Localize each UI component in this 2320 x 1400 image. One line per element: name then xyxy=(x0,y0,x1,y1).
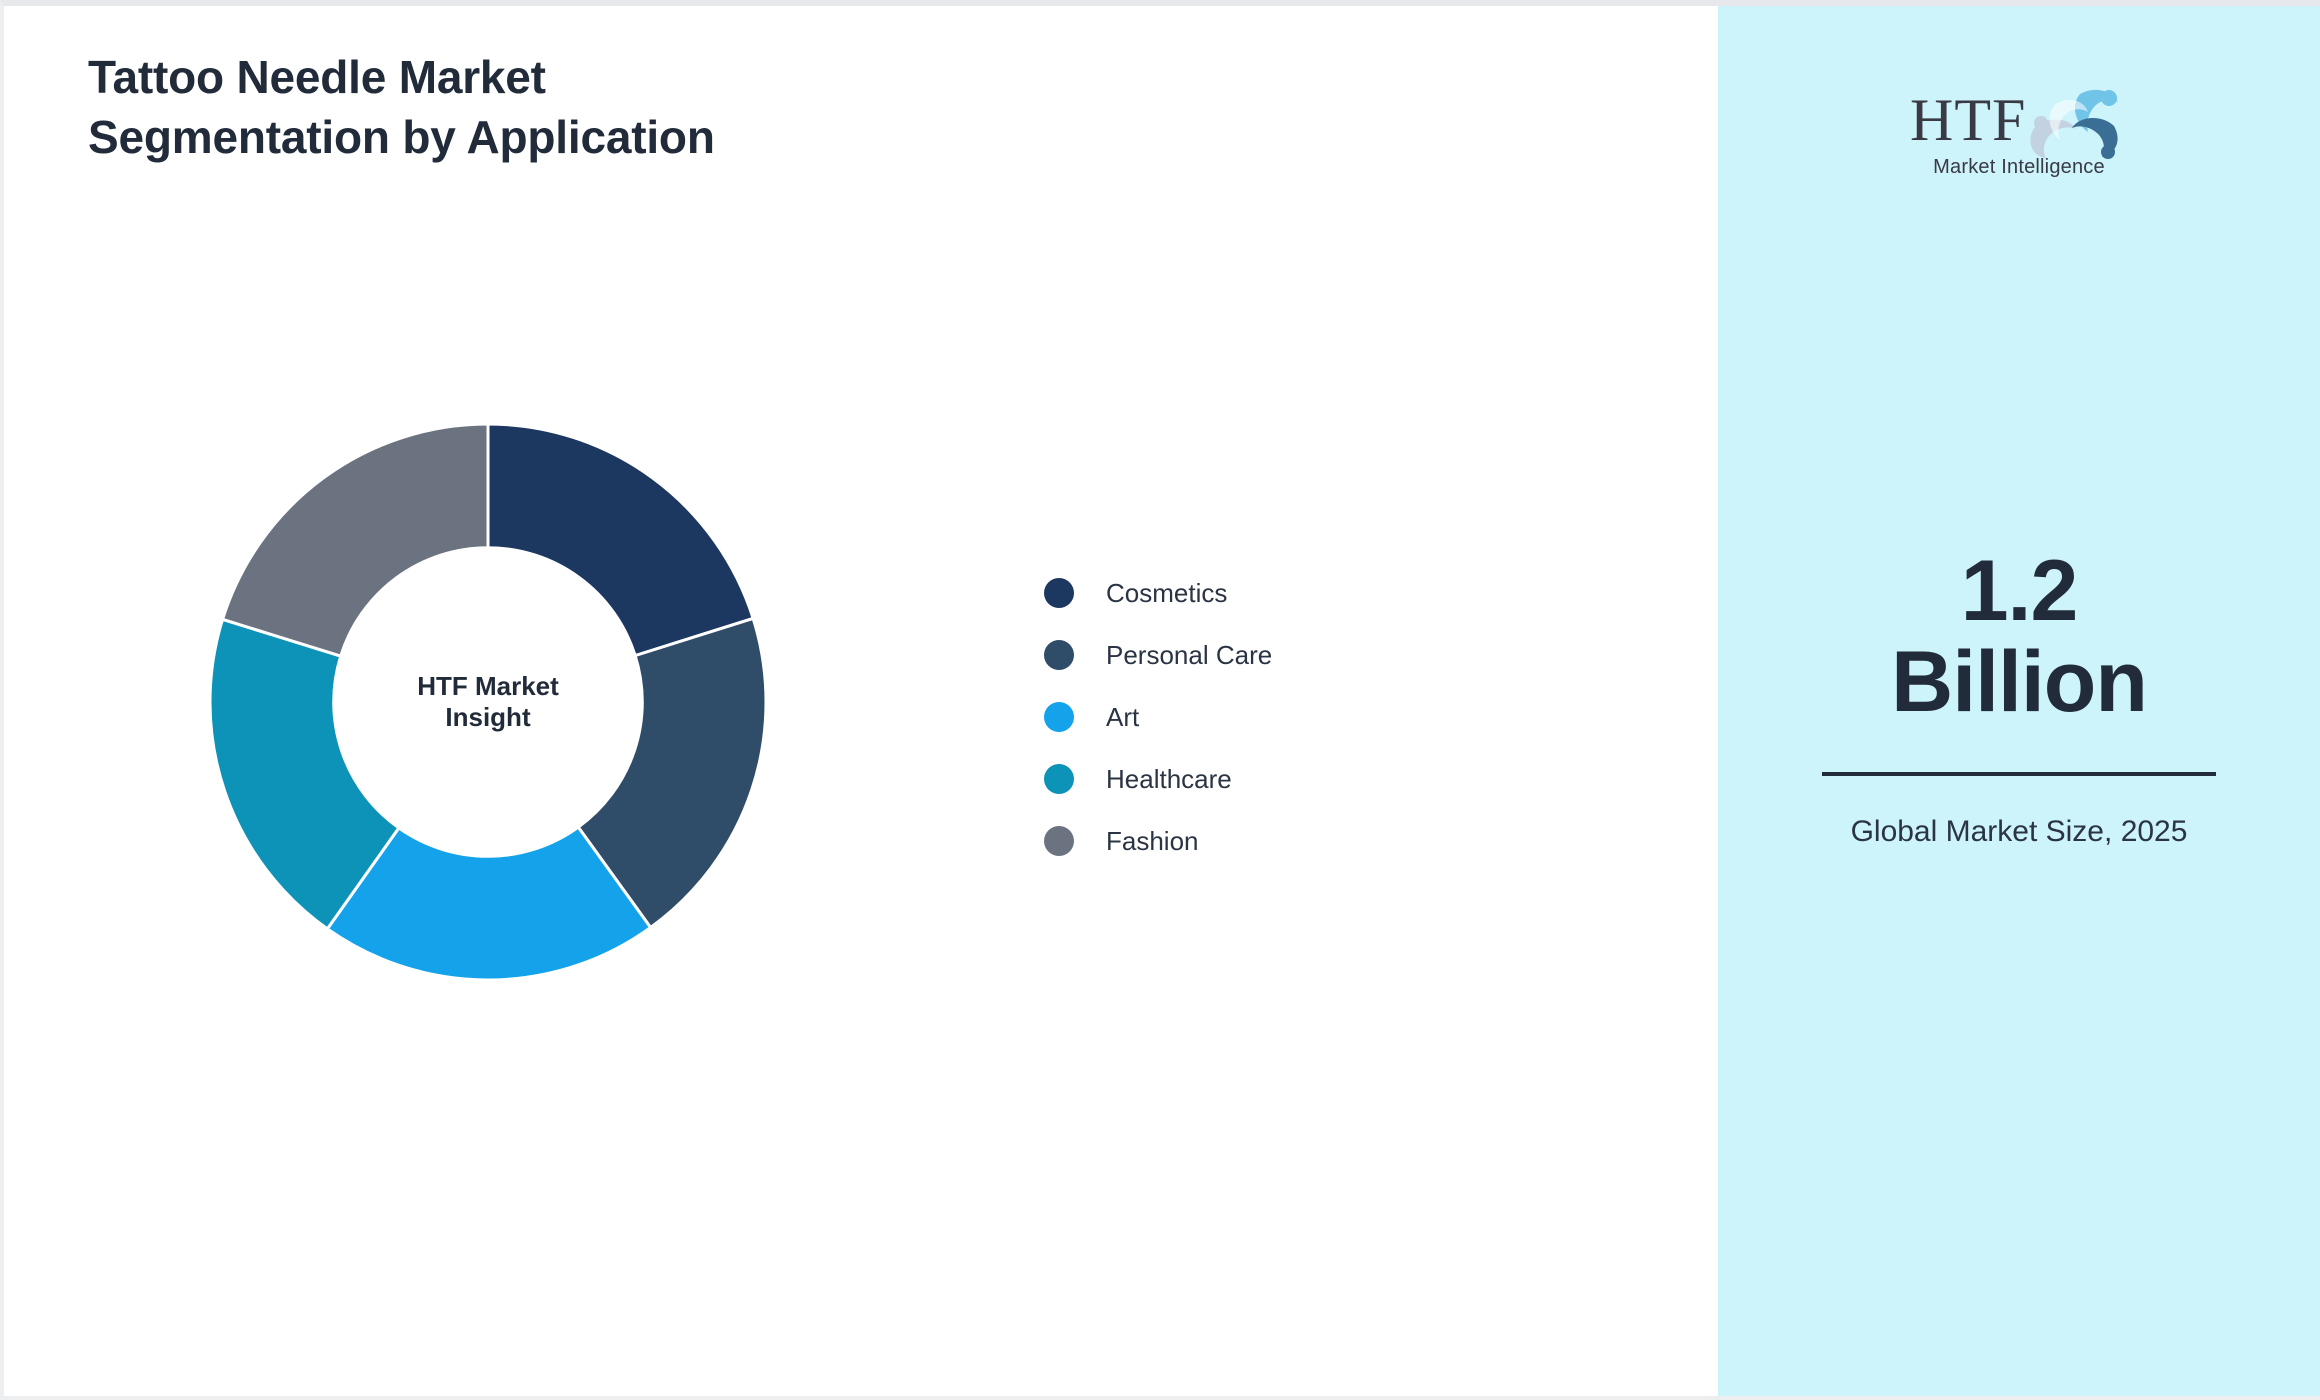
page-title-line-2: Segmentation by Application xyxy=(88,108,1188,168)
chart-legend: CosmeticsPersonal CareArtHealthcareFashi… xyxy=(1044,562,1272,872)
market-size-value-line-2: Billion xyxy=(1769,637,2269,728)
legend-item[interactable]: Personal Care xyxy=(1044,624,1272,686)
market-size-stat: 1.2 Billion Global Market Size, 2025 xyxy=(1769,546,2269,853)
market-size-caption-line-2: 2025 xyxy=(2121,815,2188,848)
donut-segment-cosmetics[interactable] xyxy=(488,424,753,656)
legend-swatch-icon xyxy=(1044,640,1074,670)
legend-swatch-icon xyxy=(1044,578,1074,608)
market-size-caption: Global Market Size, 2025 xyxy=(1769,812,2269,853)
page-title: Tattoo Needle Market Segmentation by App… xyxy=(88,48,1188,168)
legend-item-label: Cosmetics xyxy=(1106,578,1227,609)
page-title-line-1: Tattoo Needle Market xyxy=(88,48,1188,108)
legend-item[interactable]: Art xyxy=(1044,686,1272,748)
donut-chart: HTF Market Insight xyxy=(210,424,766,980)
htf-logo: HTF Market Intelligence xyxy=(1889,84,2149,179)
legend-item[interactable]: Cosmetics xyxy=(1044,562,1272,624)
legend-swatch-icon xyxy=(1044,826,1074,856)
htf-logo-mark: HTF xyxy=(1904,84,2134,160)
legend-item-label: Personal Care xyxy=(1106,640,1272,671)
donut-segment-fashion[interactable] xyxy=(223,424,488,656)
legend-item[interactable]: Fashion xyxy=(1044,810,1272,872)
market-size-caption-line-1: Global Market Size, xyxy=(1851,815,2113,848)
legend-item-label: Fashion xyxy=(1106,826,1199,857)
legend-item[interactable]: Healthcare xyxy=(1044,748,1272,810)
donut-chart-svg xyxy=(210,424,766,980)
legend-swatch-icon xyxy=(1044,702,1074,732)
legend-item-label: Healthcare xyxy=(1106,764,1232,795)
chart-panel: Tattoo Needle Market Segmentation by App… xyxy=(4,6,1718,1400)
legend-item-label: Art xyxy=(1106,702,1139,733)
infographic-page: Tattoo Needle Market Segmentation by App… xyxy=(0,0,2320,1400)
market-size-value: 1.2 Billion xyxy=(1769,546,2269,728)
market-size-value-line-1: 1.2 xyxy=(1769,546,2269,637)
legend-swatch-icon xyxy=(1044,764,1074,794)
htf-logo-letters: HTF xyxy=(1910,88,2026,152)
htf-swirl-icon xyxy=(2016,84,2128,160)
stat-panel: HTF Market Intelligence 1.2 Billion xyxy=(1718,6,2320,1400)
stat-divider xyxy=(1822,772,2216,776)
